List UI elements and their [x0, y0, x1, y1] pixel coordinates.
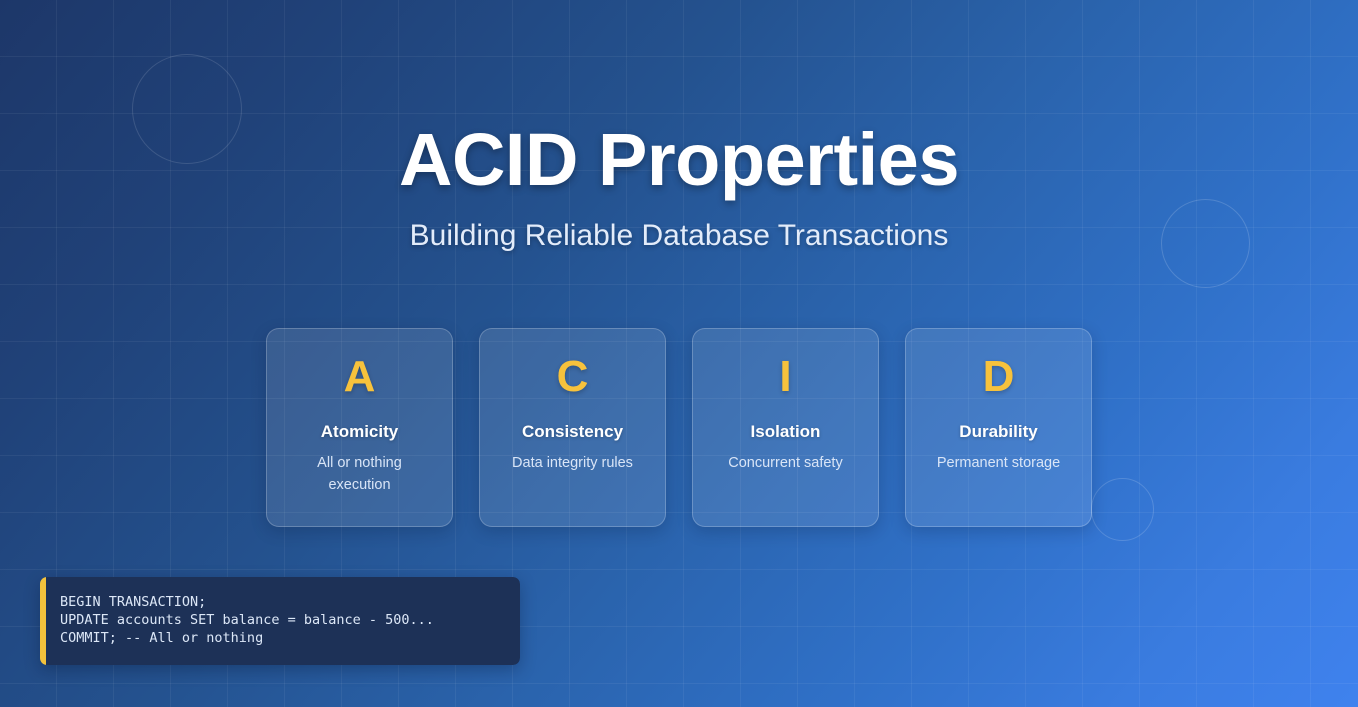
card-title: Consistency	[522, 422, 623, 442]
acid-card-list: A Atomicity All or nothing execution C C…	[0, 328, 1358, 527]
acid-card-durability[interactable]: D Durability Permanent storage	[905, 328, 1092, 527]
card-letter: D	[983, 355, 1015, 399]
slide-canvas: ACID Properties Building Reliable Databa…	[0, 0, 1358, 707]
acid-card-isolation[interactable]: I Isolation Concurrent safety	[692, 328, 879, 527]
code-body: BEGIN TRANSACTION; UPDATE accounts SET b…	[46, 577, 520, 665]
card-description: All or nothing execution	[285, 452, 435, 496]
card-description: Permanent storage	[937, 452, 1060, 474]
code-text: BEGIN TRANSACTION; UPDATE accounts SET b…	[60, 594, 504, 647]
acid-card-atomicity[interactable]: A Atomicity All or nothing execution	[266, 328, 453, 527]
sql-code-block: BEGIN TRANSACTION; UPDATE accounts SET b…	[40, 577, 520, 665]
page-subtitle: Building Reliable Database Transactions	[0, 219, 1358, 252]
card-title: Atomicity	[321, 422, 398, 442]
header: ACID Properties Building Reliable Databa…	[0, 123, 1358, 252]
card-title: Isolation	[751, 422, 821, 442]
card-title: Durability	[959, 422, 1037, 442]
card-letter: A	[344, 355, 376, 399]
page-title: ACID Properties	[0, 123, 1358, 197]
card-letter: I	[779, 355, 791, 399]
card-description: Data integrity rules	[512, 452, 633, 474]
card-letter: C	[557, 355, 589, 399]
acid-card-consistency[interactable]: C Consistency Data integrity rules	[479, 328, 666, 527]
card-description: Concurrent safety	[728, 452, 842, 474]
